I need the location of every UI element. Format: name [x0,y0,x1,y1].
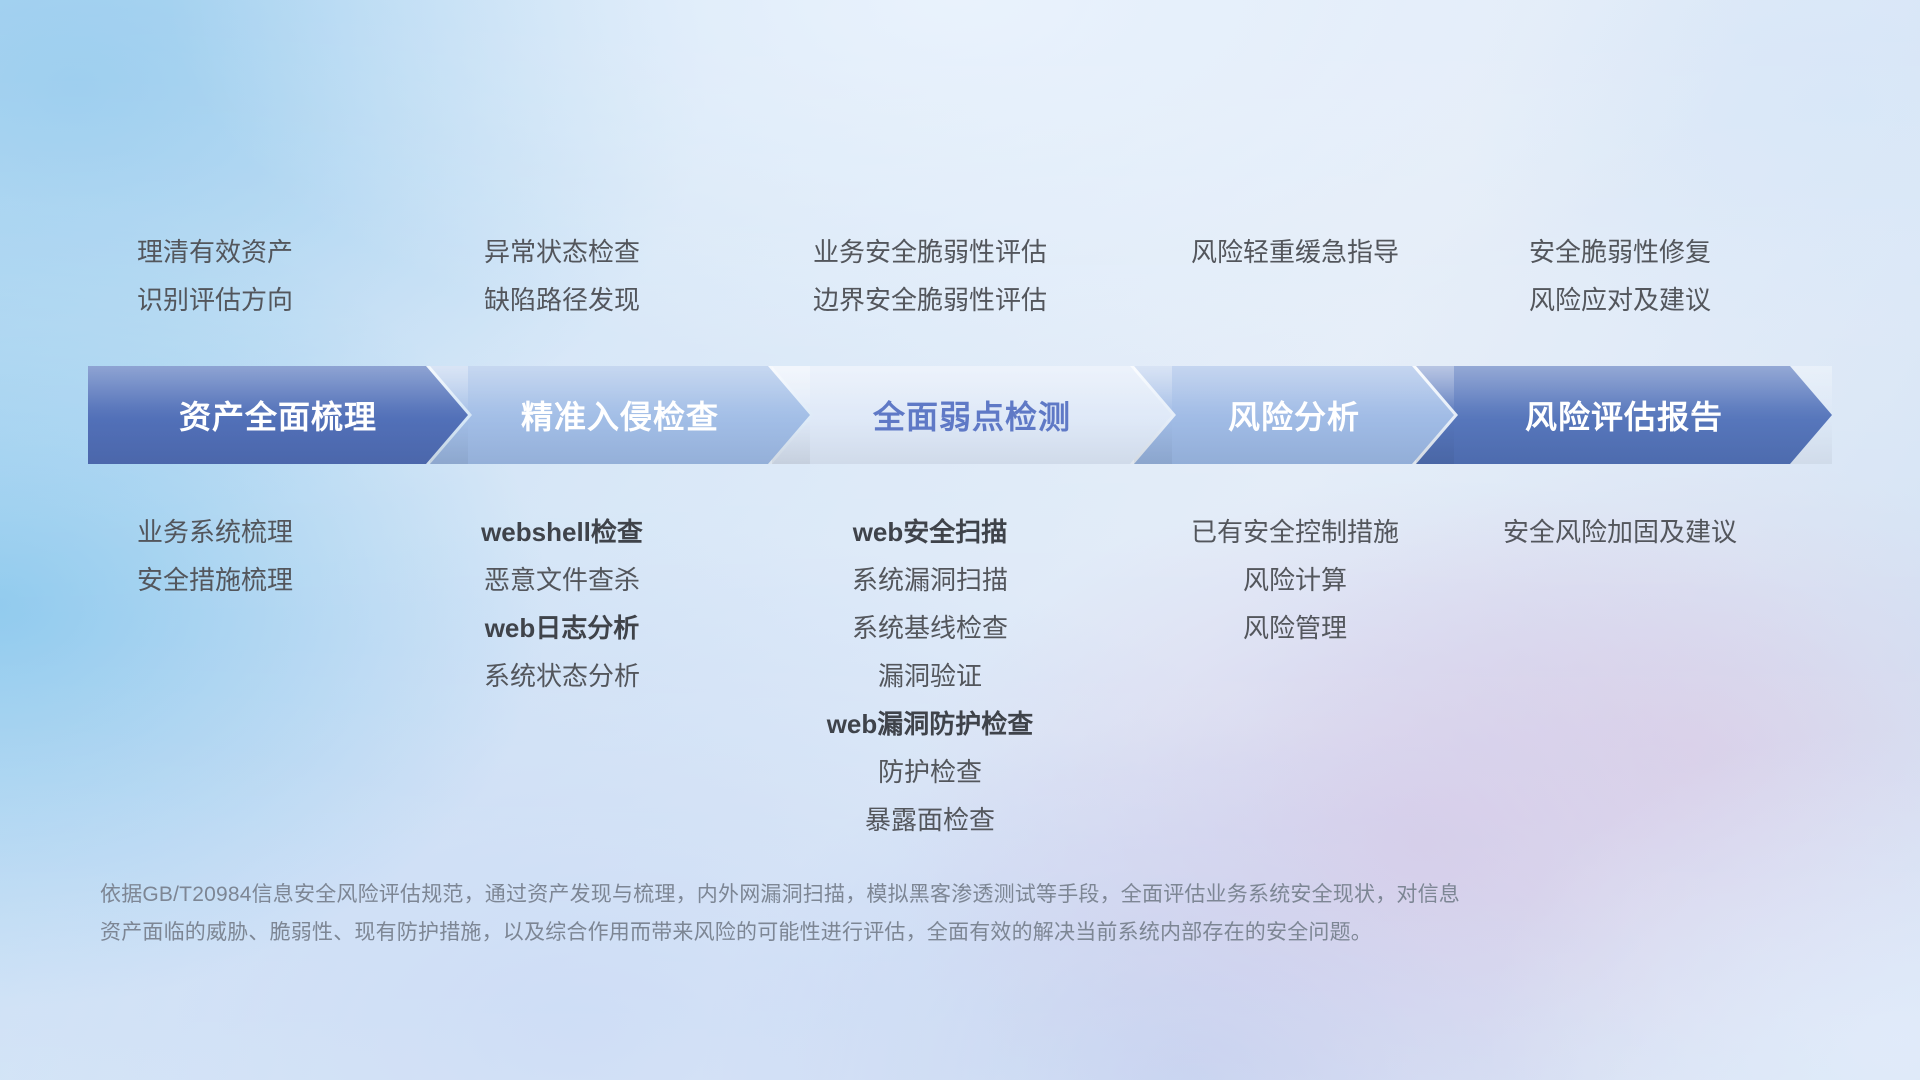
bottom-notes-assessment-report: 安全风险加固及建议 [1400,508,1840,556]
top-notes-row: 理清有效资产识别评估方向异常状态检查缺陷路径发现业务安全脆弱性评估边界安全脆弱性… [0,228,1920,318]
top-notes-assessment-report: 安全脆弱性修复风险应对及建议 [1400,228,1840,324]
stage-label: 精准入侵检查 [521,392,719,438]
infographic: 理清有效资产识别评估方向异常状态检查缺陷路径发现业务安全脆弱性评估边界安全脆弱性… [0,0,1920,1080]
footer-description: 依据GB/T20984信息安全风险评估规范，通过资产发现与梳理，内外网漏洞扫描，… [100,876,1800,952]
bottom-notes-row: 业务系统梳理安全措施梳理webshell检查恶意文件查杀web日志分析系统状态分… [0,508,1920,848]
bottom-note: 暴露面检查 [710,796,1150,844]
bottom-note: 安全风险加固及建议 [1400,508,1840,556]
process-stage-asset-inventory[interactable]: 资产全面梳理 [88,366,468,464]
process-stage-intrusion-check[interactable]: 精准入侵检查 [430,366,810,464]
stage-label: 风险评估报告 [1525,392,1723,438]
stage-label: 资产全面梳理 [179,392,377,438]
bottom-note: 风险管理 [1075,604,1515,652]
top-note: 边界安全脆弱性评估 [710,276,1150,324]
stage-label: 风险分析 [1228,392,1360,438]
process-stage-risk-analysis[interactable]: 风险分析 [1134,366,1454,464]
top-note: 安全脆弱性修复 [1400,228,1840,276]
bottom-note: 风险计算 [1075,556,1515,604]
bottom-note: web漏洞防护检查 [710,700,1150,748]
process-stage-assessment-report[interactable]: 风险评估报告 [1416,366,1832,464]
bottom-note: 防护检查 [710,748,1150,796]
process-stage-weakness-detection[interactable]: 全面弱点检测 [772,366,1172,464]
bottom-note: 漏洞验证 [710,652,1150,700]
process-arrow-strip: 资产全面梳理精准入侵检查全面弱点检测风险分析风险评估报告 [0,366,1920,464]
footer-line-2: 资产面临的威胁、脆弱性、现有防护措施，以及综合作用而带来风险的可能性进行评估，全… [100,914,1800,952]
footer-line-1: 依据GB/T20984信息安全风险评估规范，通过资产发现与梳理，内外网漏洞扫描，… [100,876,1800,914]
top-note: 风险应对及建议 [1400,276,1840,324]
stage-label: 全面弱点检测 [873,392,1071,438]
